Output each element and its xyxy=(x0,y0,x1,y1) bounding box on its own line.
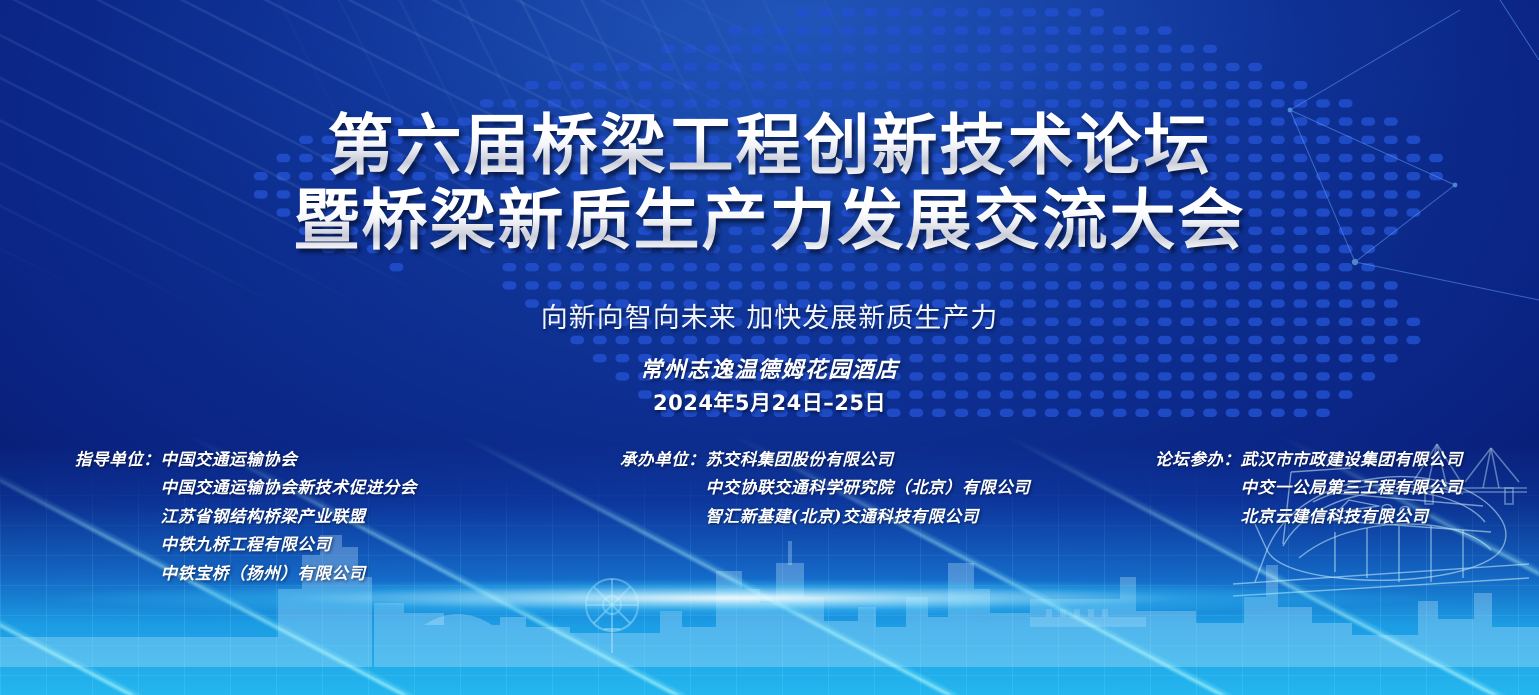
venue-block: 常州志逸温德姆花园酒店 2024年5月24日–25日 xyxy=(0,352,1539,417)
organizer-row: 支持单位：江苏省钢结构桥梁产业联盟 xyxy=(75,503,417,531)
organizer-value: 江苏省钢结构桥梁产业联盟 xyxy=(161,503,366,531)
organizer-value: 中交一公局第三工程有限公司 xyxy=(1241,474,1463,502)
organizer-value: 北京云建信科技有限公司 xyxy=(1241,503,1429,531)
organizer-row: 承办单位：苏交科集团股份有限公司 xyxy=(620,446,1030,474)
organizer-row: 论坛协办：中铁宝桥（扬州）有限公司 xyxy=(75,560,417,588)
organizer-row: 论坛参办：武汉市市政建设集团有限公司 xyxy=(1155,446,1463,474)
organizer-row: 主办单位：中国交通运输协会新技术促进分会 xyxy=(75,474,417,502)
banner-content: 第六届桥梁工程创新技术论坛 暨桥梁新质生产力发展交流大会 向新向智向未来 加快发… xyxy=(0,0,1539,695)
organizer-value: 中铁九桥工程有限公司 xyxy=(161,531,332,559)
organizer-value: 苏交科集团股份有限公司 xyxy=(706,446,894,474)
title-line-1: 第六届桥梁工程创新技术论坛 xyxy=(0,108,1539,183)
organizer-value: 智汇新基建(北京)交通科技有限公司 xyxy=(706,503,979,531)
venue-date: 2024年5月24日–25日 xyxy=(0,387,1539,417)
organizer-label: 论坛参办： xyxy=(1155,446,1241,474)
organizer-value: 中国交通运输协会新技术促进分会 xyxy=(161,474,418,502)
organizer-row: 承办单位：中交协联交通科学研究院（北京）有限公司 xyxy=(620,474,1030,502)
organizer-row: 承办单位：智汇新基建(北京)交通科技有限公司 xyxy=(620,503,1030,531)
organizer-row: 论坛参办：北京云建信科技有限公司 xyxy=(1155,503,1463,531)
organizer-label: 指导单位： xyxy=(75,446,161,474)
organizers-right-column: 论坛参办：武汉市市政建设集团有限公司论坛参办：中交一公局第三工程有限公司论坛参办… xyxy=(1155,446,1463,531)
organizer-value: 中铁宝桥（扬州）有限公司 xyxy=(161,560,366,588)
organizer-row: 论坛承办：中铁九桥工程有限公司 xyxy=(75,531,417,559)
organizer-row: 论坛参办：中交一公局第三工程有限公司 xyxy=(1155,474,1463,502)
organizer-value: 中国交通运输协会 xyxy=(161,446,298,474)
venue-name: 常州志逸温德姆花园酒店 xyxy=(0,352,1539,384)
organizer-label: 承办单位： xyxy=(620,446,706,474)
organizer-value: 中交协联交通科学研究院（北京）有限公司 xyxy=(706,474,1031,502)
conference-banner: 第六届桥梁工程创新技术论坛 暨桥梁新质生产力发展交流大会 向新向智向未来 加快发… xyxy=(0,0,1539,695)
organizer-value: 武汉市市政建设集团有限公司 xyxy=(1241,446,1463,474)
organizers-left-column: 指导单位：中国交通运输协会主办单位：中国交通运输协会新技术促进分会支持单位：江苏… xyxy=(75,446,417,588)
subtitle: 向新向智向未来 加快发展新质生产力 xyxy=(0,296,1539,335)
organizers-center-column: 承办单位：苏交科集团股份有限公司承办单位：中交协联交通科学研究院（北京）有限公司… xyxy=(620,446,1030,531)
organizer-row: 指导单位：中国交通运输协会 xyxy=(75,446,417,474)
title-line-2: 暨桥梁新质生产力发展交流大会 xyxy=(0,183,1539,258)
title-block: 第六届桥梁工程创新技术论坛 暨桥梁新质生产力发展交流大会 xyxy=(0,108,1539,257)
